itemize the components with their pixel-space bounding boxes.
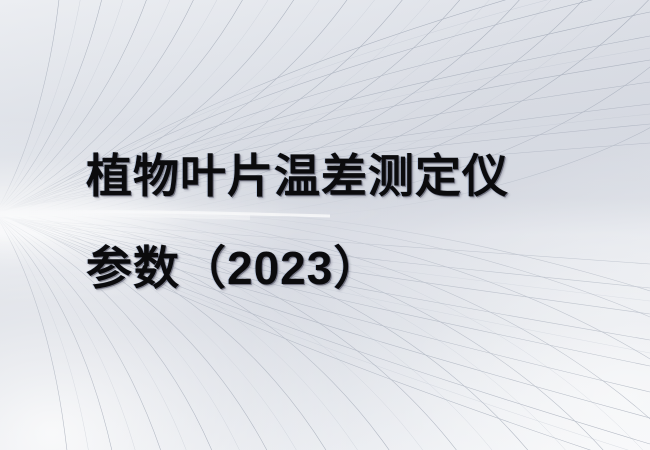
slide-title-line-2: 参数（2023） <box>86 222 606 314</box>
slide-title-line-1: 植物叶片温差测定仪 <box>86 130 606 222</box>
slide-title-block: 植物叶片温差测定仪 参数（2023） <box>86 130 606 314</box>
title-slide: 植物叶片温差测定仪 参数（2023） <box>0 0 650 450</box>
